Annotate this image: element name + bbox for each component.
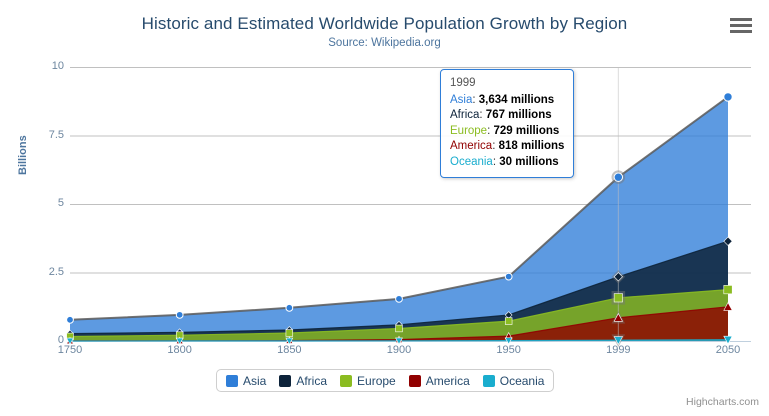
legend-swatch-icon (279, 375, 291, 387)
highcharts-container: Historic and Estimated Worldwide Populat… (0, 0, 769, 416)
tooltip-series-value: 767 millions (486, 109, 552, 121)
y-axis-title: Billions (17, 135, 29, 175)
data-point-asia-1750[interactable] (67, 316, 74, 323)
legend-swatch-icon (409, 375, 421, 387)
data-point-asia-1800[interactable] (176, 311, 183, 318)
tooltip-series-name: Oceania (450, 156, 493, 168)
y-axis-tick-label: 2.5 (22, 266, 64, 278)
data-point-europe-2050[interactable] (724, 285, 732, 293)
legend-item-label: Oceania (500, 374, 545, 388)
tooltip-series-value: 729 millions (493, 125, 559, 137)
legend-item-africa[interactable]: Africa (279, 374, 327, 388)
legend-item-europe[interactable]: Europe (340, 374, 396, 388)
tooltip-series-name: Africa (450, 109, 479, 121)
legend-swatch-icon (226, 375, 238, 387)
data-point-asia-1999[interactable] (614, 173, 622, 181)
y-axis-tick-label: 10 (22, 60, 64, 72)
tooltip-series-name: America (450, 140, 492, 152)
legend[interactable]: AsiaAfricaEuropeAmericaOceania (216, 369, 554, 392)
highcharts-credit[interactable]: Highcharts.com (686, 396, 759, 408)
series-areas (70, 97, 728, 341)
legend-item-label: Europe (357, 374, 396, 388)
tooltip-series-value: 3,634 millions (479, 94, 554, 106)
legend-swatch-icon (483, 375, 495, 387)
legend-swatch-icon (340, 375, 352, 387)
tooltip-row-asia: Asia: 3,634 millions (450, 93, 564, 109)
tooltip-series-value: 30 millions (499, 156, 558, 168)
data-point-asia-1900[interactable] (396, 295, 403, 302)
x-axis-tick-label: 1999 (588, 344, 648, 356)
tooltip-row-africa: Africa: 767 millions (450, 108, 564, 124)
data-point-asia-2050[interactable] (724, 93, 732, 101)
tooltip-header: 1999 (450, 76, 564, 93)
tooltip-series-name: Europe (450, 125, 487, 137)
data-point-europe-1950[interactable] (505, 318, 512, 325)
legend-item-label: Africa (296, 374, 327, 388)
data-point-asia-1850[interactable] (286, 304, 293, 311)
y-axis-tick-label: 5 (22, 197, 64, 209)
data-point-asia-1950[interactable] (505, 273, 512, 280)
x-axis-tick-label: 1950 (479, 344, 539, 356)
tooltip-rows: Asia: 3,634 millionsAfrica: 767 millions… (450, 93, 564, 171)
data-point-europe-1850[interactable] (286, 330, 293, 337)
legend-item-asia[interactable]: Asia (226, 374, 266, 388)
tooltip-row-europe: Europe: 729 millions (450, 124, 564, 140)
x-axis-tick-label: 1900 (369, 344, 429, 356)
tooltip: 1999 Asia: 3,634 millionsAfrica: 767 mil… (440, 69, 574, 178)
tooltip-series-name: Asia (450, 94, 472, 106)
data-point-europe-1999[interactable] (614, 294, 622, 302)
x-axis-tick-label: 1750 (40, 344, 100, 356)
tooltip-series-value: 818 millions (499, 140, 565, 152)
x-axis-tick-label: 2050 (698, 344, 758, 356)
x-axis-tick-label: 1850 (259, 344, 319, 356)
legend-item-label: America (426, 374, 470, 388)
data-point-europe-1900[interactable] (396, 325, 403, 332)
tooltip-row-america: America: 818 millions (450, 139, 564, 155)
legend-item-oceania[interactable]: Oceania (483, 374, 545, 388)
tooltip-row-oceania: Oceania: 30 millions (450, 155, 564, 171)
legend-item-america[interactable]: America (409, 374, 470, 388)
legend-item-label: Asia (243, 374, 266, 388)
x-axis-tick-label: 1800 (150, 344, 210, 356)
